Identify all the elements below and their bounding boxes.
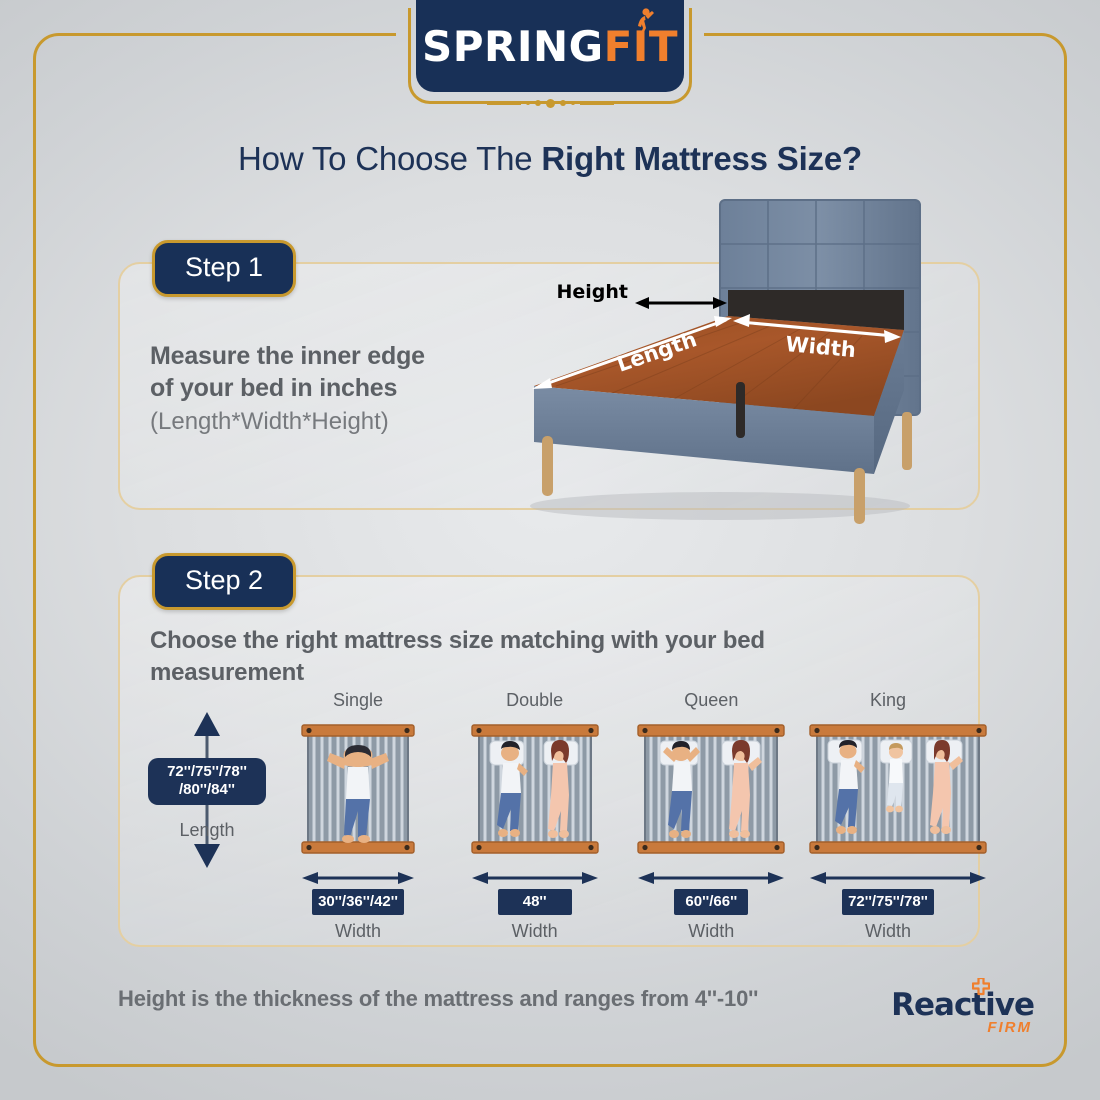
mattress-figure-single [278,719,438,859]
step-1-description: Measure the inner edge of your bed in in… [150,340,490,437]
width-arrow-single [300,871,416,885]
width-arrow-double [470,871,600,885]
bed-label-height: Height [556,281,628,303]
step-1-line-1: Measure the inner edge [150,340,490,372]
length-axis-label: Length [148,820,266,841]
step-2-description: Choose the right mattress size matching … [150,625,880,688]
bed-diagram-svg: Height Length Width [470,190,970,530]
ornament-dot-2 [535,100,541,106]
ornament-dot-3 [546,99,555,108]
mattress-size-row: Single [278,690,968,940]
bed-leg-front-left [542,436,553,496]
page-title-normal: How To Choose The [238,140,541,177]
mattress-figure-queen [631,719,791,859]
ornament-line-left [487,102,521,105]
width-value-queen: 60''/66'' [674,889,748,915]
height-arrow [635,297,727,309]
length-value-line-2: /80''/84'' [150,781,264,799]
width-value-double: 48'' [498,889,572,915]
length-axis-indicator: 72''/75''/78'' /80''/84'' Length [148,710,266,870]
brand-logo-text: SPRINGFIT [422,22,678,71]
infographic-page: SPRINGFIT How To Choose The Right Mattre… [0,0,1100,1100]
plus-cross-icon [972,978,990,996]
width-label-king: Width [808,921,968,942]
bed-leg-rear [736,382,745,438]
mattress-card-double[interactable]: Double [455,690,615,940]
length-value-badge: 72''/75''/78'' /80''/84'' [148,758,266,805]
partner-logo-main: Reactive [874,990,1034,1021]
brand-logo: SPRINGFIT [416,0,684,92]
step-1-badge: Step 1 [152,240,296,297]
width-arrow-king [808,871,988,885]
mattress-name-queen: Queen [631,690,791,711]
mattress-figure-double [455,719,615,859]
mattress-card-queen[interactable]: Queen [631,690,791,940]
width-label-queen: Width [631,921,791,942]
frame-dot-ornament [408,96,692,110]
footer-note: Height is the thickness of the mattress … [118,986,758,1012]
ornament-line-right [580,102,614,105]
bed-illustration: Height Length Width [470,190,970,530]
length-value-line-1: 72''/75''/78'' [150,763,264,781]
step-1-formula: (Length*Width*Height) [150,406,490,437]
bed-leg-front-right [854,468,865,524]
mattress-figure-king [808,719,968,859]
ornament-dot-5 [571,101,575,105]
athlete-figure-icon [634,8,654,34]
width-arrow-queen [636,871,786,885]
width-value-king: 72''/75''/78'' [842,889,934,915]
mattress-name-single: Single [278,690,438,711]
partner-logo-reactive: Reactive FIRM [874,990,1034,1042]
page-title: How To Choose The Right Mattress Size? [0,140,1100,178]
width-value-single: 30''/36''/42'' [312,889,404,915]
step-1-line-2: of your bed in inches [150,372,490,404]
ornament-dot-4 [560,100,566,106]
brand-logo-primary: SPRING [422,22,604,71]
partner-logo-main-text: Reactive [891,987,1034,1023]
mattress-name-king: King [808,690,968,711]
mattress-card-single[interactable]: Single [278,690,438,940]
width-label-double: Width [455,921,615,942]
width-label-single: Width [278,921,438,942]
page-title-bold: Right Mattress Size? [541,140,862,177]
ornament-dot-1 [526,101,530,105]
step-2-badge: Step 2 [152,553,296,610]
mattress-card-king[interactable]: King [808,690,968,940]
mattress-name-double: Double [455,690,615,711]
